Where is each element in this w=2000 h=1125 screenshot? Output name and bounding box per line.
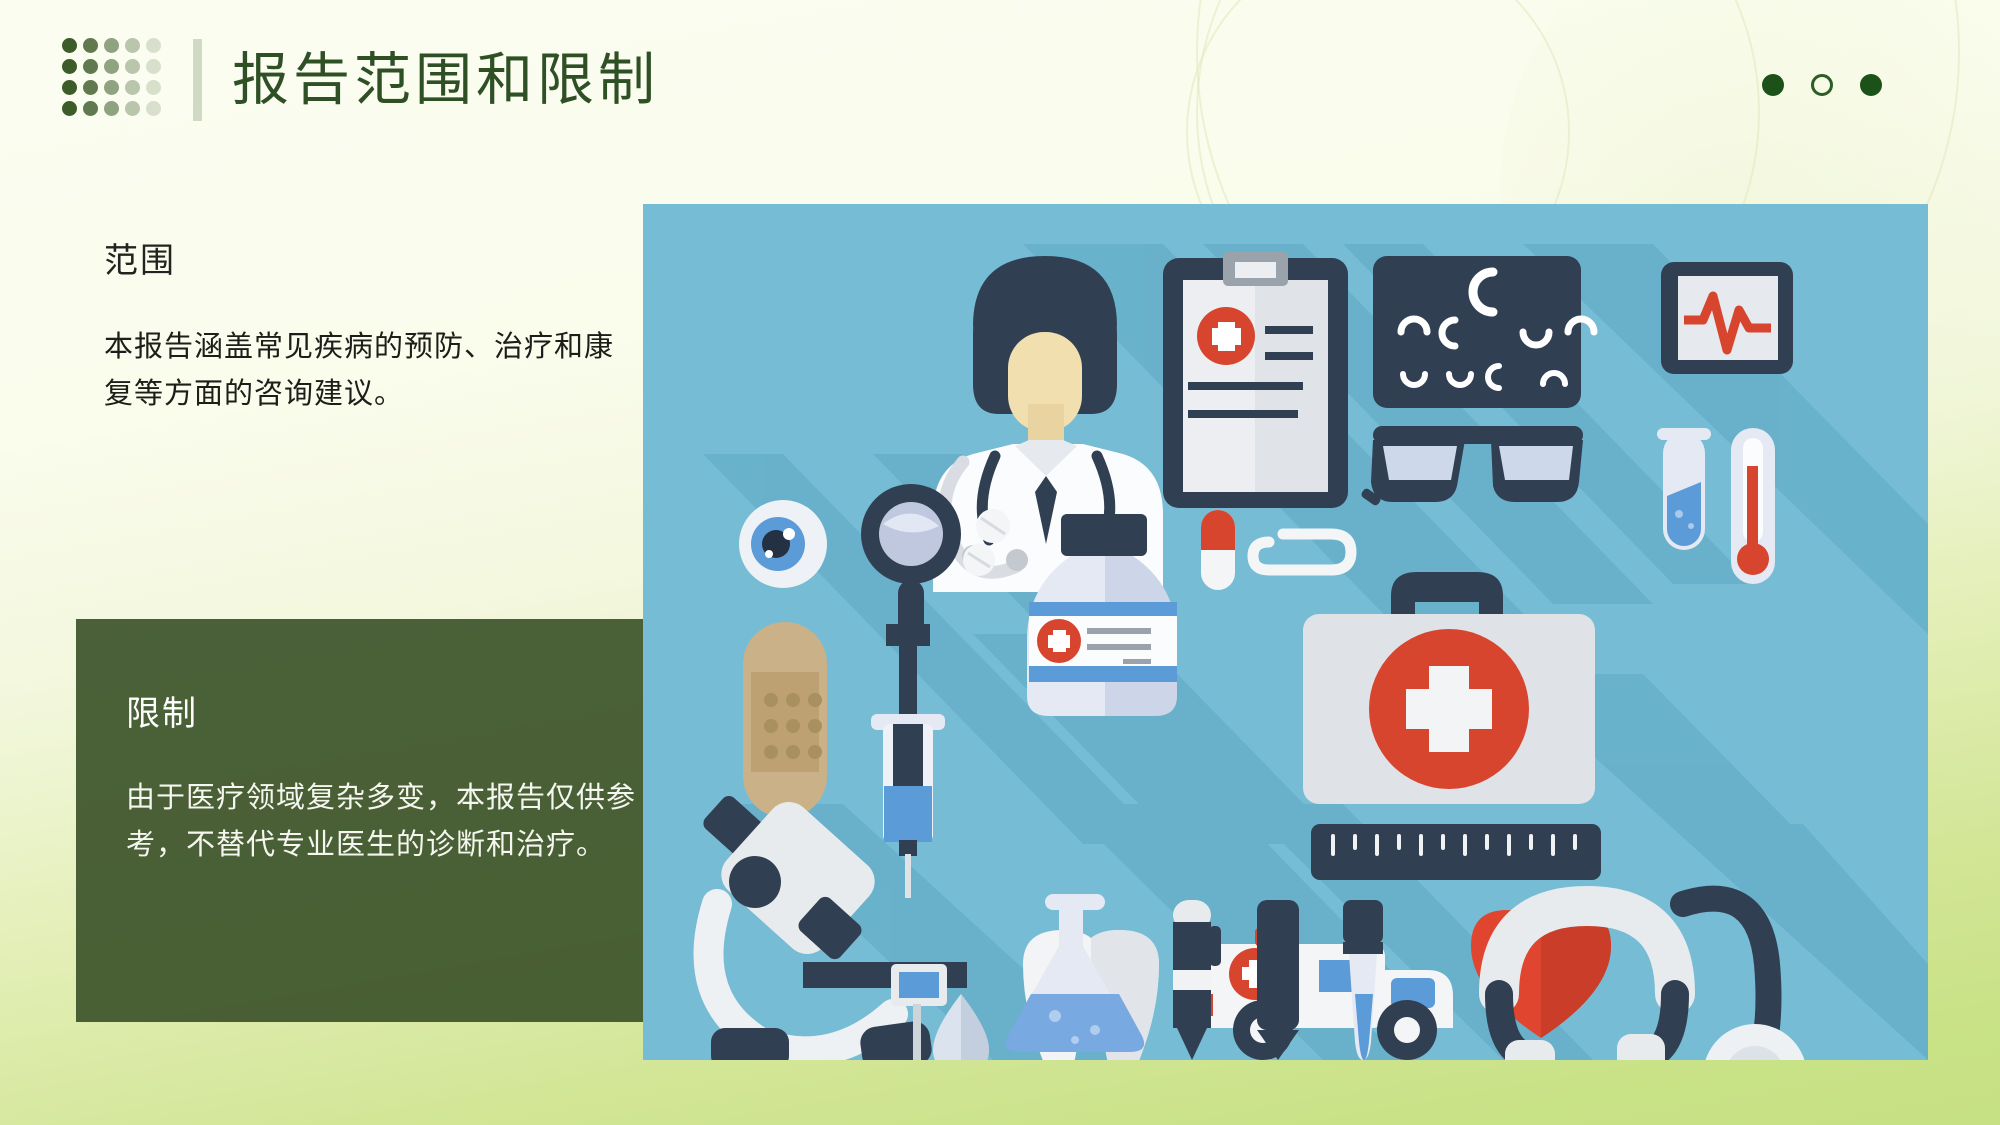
grid-dot	[146, 80, 161, 95]
dot-grid-decoration	[62, 38, 167, 122]
grid-dot	[104, 101, 119, 116]
limits-heading: 限制	[126, 686, 672, 735]
scope-heading: 范围	[104, 233, 624, 282]
grid-dot	[83, 38, 98, 53]
grid-dot	[62, 101, 77, 116]
medical-icons-svg	[643, 204, 1928, 1060]
grid-dot	[146, 38, 161, 53]
slide-header: 报告范围和限制	[62, 38, 659, 122]
grid-dot	[146, 101, 161, 116]
grid-dot	[125, 80, 140, 95]
grid-dot	[146, 59, 161, 74]
pencil-icon	[1257, 900, 1299, 1060]
clipboard-with-cross-icon	[1163, 252, 1348, 508]
ecg-monitor-icon	[1661, 262, 1793, 374]
limits-card: 限制 由于医疗领域复杂多变，本报告仅供参考，不替代专业医生的诊断和治疗。	[76, 619, 730, 1022]
grid-dot	[62, 59, 77, 74]
scope-body: 本报告涵盖常见疾病的预防、治疗和康复等方面的咨询建议。	[104, 324, 624, 418]
grid-dot	[125, 101, 140, 116]
grid-dot	[83, 80, 98, 95]
grid-dot	[62, 80, 77, 95]
grid-dot	[83, 101, 98, 116]
ruler-icon	[1311, 824, 1601, 880]
grid-dot	[83, 59, 98, 74]
grid-dot	[104, 59, 119, 74]
eye-chart-icon	[1373, 256, 1594, 408]
title-divider	[193, 39, 202, 121]
eyeball-icon	[739, 500, 827, 588]
dot-hollow-middle-icon	[1811, 74, 1833, 96]
thermometer-icon	[1731, 428, 1775, 584]
limits-body: 由于医疗领域复杂多变，本报告仅供参考，不替代专业医生的诊断和治疗。	[126, 775, 672, 869]
grid-dot	[104, 80, 119, 95]
page-title: 报告范围和限制	[232, 52, 659, 109]
grid-dot	[125, 38, 140, 53]
dot-filled-left-icon	[1762, 74, 1784, 96]
corner-dots	[1762, 74, 1882, 96]
grid-dot	[104, 38, 119, 53]
dot-filled-right-icon	[1860, 74, 1882, 96]
scope-block: 范围 本报告涵盖常见疾病的预防、治疗和康复等方面的咨询建议。	[104, 233, 624, 418]
slide-root: 报告范围和限制 范围 本报告涵盖常见疾病的预防、治疗和康复等方面的咨询建议。 限…	[0, 0, 2000, 1125]
grid-dot	[62, 38, 77, 53]
test-tube-icon	[1657, 428, 1711, 550]
adhesive-bandage-icon	[743, 622, 827, 818]
grid-dot	[125, 59, 140, 74]
capsule-icon	[1201, 510, 1235, 590]
medical-illustration-panel	[643, 204, 1928, 1060]
